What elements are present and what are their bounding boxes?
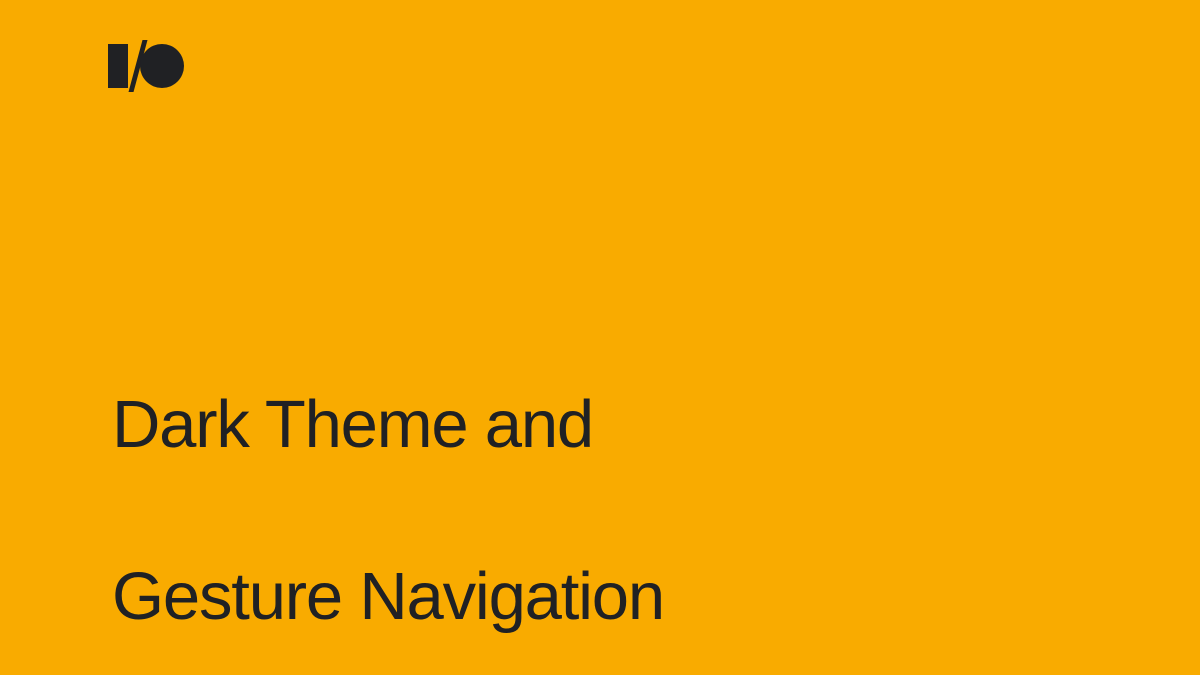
slide-text-block: Dark Theme and Gesture Navigation Suppor…: [112, 296, 912, 675]
logo-i-bar: [108, 44, 128, 88]
logo-o-circle: [140, 44, 184, 88]
page-title-line-2: Gesture Navigation: [112, 554, 912, 640]
page-title-line-1: Dark Theme and: [112, 382, 912, 468]
page-title: Dark Theme and Gesture Navigation: [112, 296, 912, 675]
presentation-slide: Dark Theme and Gesture Navigation Suppor…: [0, 0, 1200, 675]
google-io-logo: [106, 38, 192, 94]
